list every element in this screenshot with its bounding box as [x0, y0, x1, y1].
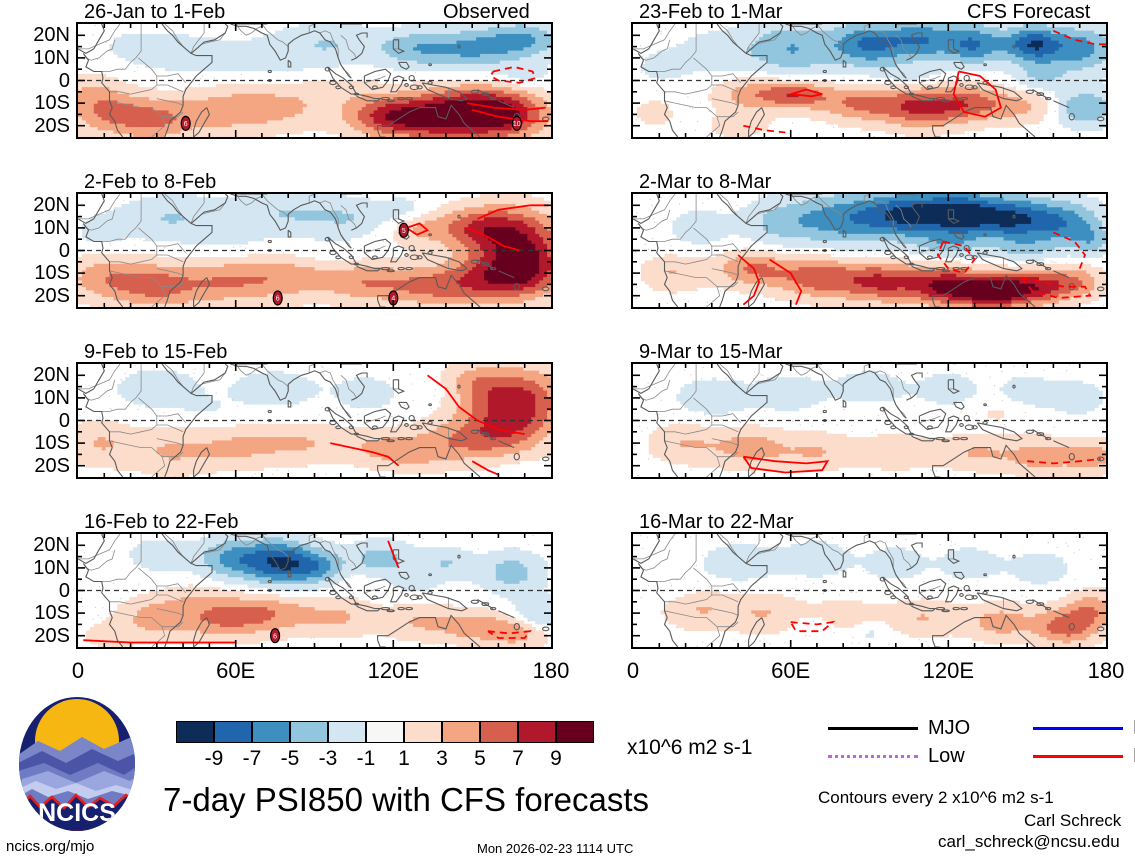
- legend-label-low: Low: [928, 746, 965, 766]
- map-panel-fcst-1[interactable]: [631, 22, 1108, 139]
- x-axis-label: 120E: [903, 660, 993, 682]
- map-panel-fcst-4[interactable]: [631, 532, 1108, 649]
- panel-title-fcst-1: 23-Feb to 1-Mar: [639, 2, 782, 22]
- map-panel-fcst-3[interactable]: [631, 362, 1108, 479]
- x-axis-label: 60E: [191, 660, 281, 682]
- column-header-forecast: CFS Forecast: [967, 2, 1090, 22]
- colorbar-swatch-4: [328, 721, 366, 743]
- colorbar-swatch-3: [290, 721, 328, 743]
- panel-title-obs-3: 9-Feb to 15-Feb: [84, 342, 227, 362]
- colorbar-swatch-1: [214, 721, 252, 743]
- colorbar-swatch-8: [480, 721, 518, 743]
- legend-label-mjo: MJO: [928, 718, 970, 738]
- y-axis-label: 0: [0, 241, 70, 261]
- y-axis-label: 20S: [0, 626, 70, 646]
- y-axis-label: 20N: [0, 195, 70, 215]
- author-name: Carl Schreck: [1024, 812, 1121, 829]
- map-panel-obs-3[interactable]: [76, 362, 553, 479]
- y-axis-label: 20S: [0, 286, 70, 306]
- y-axis-label: 10N: [0, 558, 70, 578]
- y-axis-label: 0: [0, 411, 70, 431]
- panel-title-obs-2: 2-Feb to 8-Feb: [84, 172, 216, 192]
- colorbar-units: x10^6 m2 s-1: [627, 738, 752, 758]
- y-axis-label: 10S: [0, 603, 70, 623]
- legend-line-kelvin-x2: [1033, 727, 1123, 730]
- colorbar-swatch-10: [556, 721, 594, 743]
- y-axis-label: 10S: [0, 263, 70, 283]
- colorbar-swatch-5: [366, 721, 404, 743]
- y-axis-label: 10S: [0, 433, 70, 453]
- colorbar-swatch-6: [404, 721, 442, 743]
- x-axis-label: 180: [506, 660, 596, 682]
- map-panel-obs-1[interactable]: 610: [76, 22, 553, 139]
- y-axis-label: 20S: [0, 456, 70, 476]
- author-email: carl_schreck@ncsu.edu: [938, 833, 1120, 850]
- svg-text:6: 6: [184, 121, 188, 128]
- panel-title-obs-1: 26-Jan to 1-Feb: [84, 2, 225, 22]
- map-panel-obs-2[interactable]: 564: [76, 192, 553, 309]
- contour-note: Contours every 2 x10^6 m2 s-1: [818, 789, 1054, 806]
- y-axis-label: 20S: [0, 116, 70, 136]
- y-axis-label: 20N: [0, 25, 70, 45]
- colorbar-swatch-0: [176, 721, 214, 743]
- y-axis-label: 10N: [0, 388, 70, 408]
- figure-title: 7-day PSI850 with CFS forecasts: [163, 783, 649, 816]
- colorbar-tick: 9: [531, 748, 581, 769]
- x-axis-label: 0: [588, 660, 678, 682]
- panel-title-fcst-2: 2-Mar to 8-Mar: [639, 172, 771, 192]
- y-axis-label: 0: [0, 71, 70, 91]
- map-panel-obs-4[interactable]: 6: [76, 532, 553, 649]
- column-header-observed: Observed: [443, 2, 530, 22]
- y-axis-label: 10N: [0, 218, 70, 238]
- y-axis-label: 20N: [0, 365, 70, 385]
- ncics-logo: NCICS: [18, 697, 136, 832]
- x-axis-label: 60E: [746, 660, 836, 682]
- panel-title-fcst-3: 9-Mar to 15-Mar: [639, 342, 782, 362]
- timestamp: Mon 2026-02-23 1114 UTC: [477, 842, 633, 855]
- colorbar-swatch-7: [442, 721, 480, 743]
- x-axis-label: 0: [33, 660, 123, 682]
- x-axis-label: 120E: [348, 660, 438, 682]
- y-axis-label: 20N: [0, 535, 70, 555]
- panel-title-obs-4: 16-Feb to 22-Feb: [84, 512, 239, 532]
- map-panel-fcst-2[interactable]: [631, 192, 1108, 309]
- y-axis-label: 10S: [0, 93, 70, 113]
- x-axis-label: 180: [1061, 660, 1135, 682]
- legend-line-mjo: [828, 727, 918, 730]
- colorbar-swatch-2: [252, 721, 290, 743]
- y-axis-label: 10N: [0, 48, 70, 68]
- svg-text:10: 10: [513, 121, 521, 128]
- panel-title-fcst-4: 16-Mar to 22-Mar: [639, 512, 794, 532]
- logo-label: NCICS: [38, 799, 116, 827]
- colorbar-swatch-9: [518, 721, 556, 743]
- colorbar: [176, 721, 594, 743]
- site-url[interactable]: ncics.org/mjo: [6, 840, 94, 853]
- legend-line-er: [1033, 755, 1123, 758]
- y-axis-label: 0: [0, 581, 70, 601]
- legend-line-low: [828, 755, 918, 758]
